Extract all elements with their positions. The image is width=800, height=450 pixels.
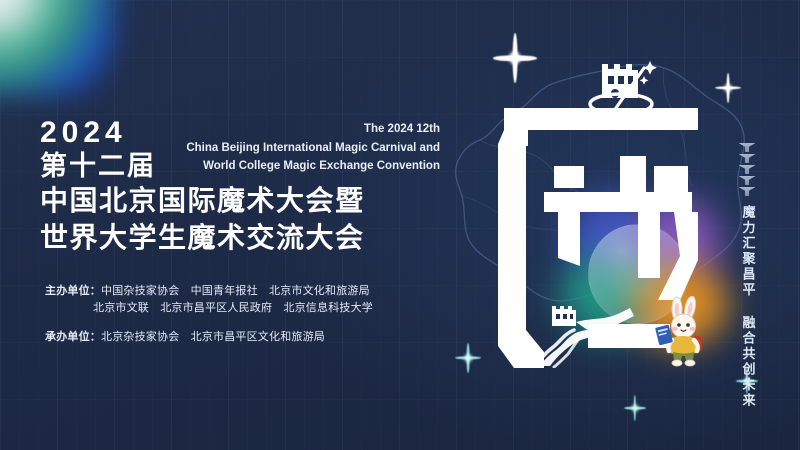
- english-line1: The 2024 12th: [150, 120, 440, 139]
- magic-hat-castle-logo-icon: [580, 52, 662, 126]
- co-organizers-label: 承办单位：: [45, 331, 101, 343]
- host-organizers-label: 主办单位：: [45, 285, 101, 297]
- chevron-down-icon: [739, 165, 756, 174]
- rabbit-mascot-icon: [655, 296, 713, 368]
- english-line2: China Beijing International Magic Carniv…: [150, 139, 440, 158]
- co-organizers-line1: 承办单位：北京杂技家协会 北京市昌平区文化和旅游局: [45, 329, 373, 346]
- host-organizers-line1: 主办单位：中国杂技家协会 中国青年报社 北京市文化和旅游局: [45, 283, 373, 300]
- chevron-down-icon: [739, 143, 756, 152]
- chinese-title-line1: 中国北京国际魔术大会暨: [40, 183, 440, 219]
- co-organizers-names1: 北京杂技家协会 北京市昌平区文化和旅游局: [101, 331, 325, 343]
- english-subtitle-block: The 2024 12th China Beijing Internationa…: [150, 120, 440, 176]
- organizers-block: 主办单位：中国杂技家协会 中国青年报社 北京市文化和旅游局 北京市文联 北京市昌…: [45, 283, 373, 358]
- host-organizers-group: 主办单位：中国杂技家协会 中国青年报社 北京市文化和旅游局 北京市文联 北京市昌…: [45, 283, 373, 317]
- english-line3: World College Magic Exchange Convention: [150, 157, 440, 176]
- chevron-down-icon: [739, 187, 756, 196]
- great-wall-illustration-icon: [534, 296, 644, 368]
- chevron-decoration: [732, 143, 762, 196]
- host-organizers-line2: 北京市文联 北京市昌平区人民政府 北京信息科技大学: [45, 300, 373, 317]
- host-organizers-names1: 中国杂技家协会 中国青年报社 北京市文化和旅游局: [101, 285, 370, 297]
- vertical-slogan-block: 魔力汇聚昌平 融合共创未来: [732, 143, 762, 409]
- slogan-text: 魔力汇聚昌平 融合共创未来: [740, 205, 755, 409]
- chinese-title-line2: 世界大学生魔术交流大会: [40, 220, 440, 256]
- poster-canvas: 2024 第十二届 中国北京国际魔术大会暨 世界大学生魔术交流大会 The 20…: [0, 0, 800, 450]
- co-organizers-group: 承办单位：北京杂技家协会 北京市昌平区文化和旅游局: [45, 329, 373, 346]
- chevron-down-icon: [739, 154, 756, 163]
- chevron-down-icon: [739, 176, 756, 185]
- corner-gradient-blob: [0, 0, 113, 94]
